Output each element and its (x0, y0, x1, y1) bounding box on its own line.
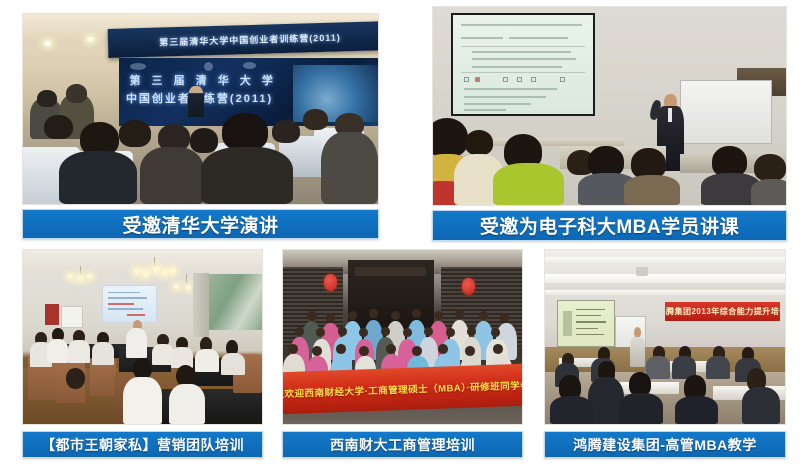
audience-figure (59, 151, 137, 204)
ceiling-light-strip (545, 257, 785, 264)
sponsor-logo-icon (243, 62, 256, 69)
stage-headline-line1: 第 三 届 清 华 大 学 (130, 73, 325, 88)
sponsor-logo-icon (204, 62, 213, 71)
red-lantern-icon (324, 274, 337, 291)
caption-uestc[interactable]: 受邀为电子科大MBA学员讲课 (432, 210, 787, 241)
student-figure (706, 356, 730, 379)
gallery-card-swufe[interactable]: 热烈欢迎西南财经大学·工商管理硕士（MBA）·研修班同学参加 西南财大工商管理培… (282, 249, 523, 458)
ceiling-light-strip (545, 290, 785, 295)
student-head (465, 130, 493, 156)
projector-screen-frame (451, 13, 596, 116)
photo-gallery: 第三届清华大学中国创业者训练营(2011) 第 三 届 清 华 大 学 中国创业… (0, 0, 800, 467)
gallery-card-uestc[interactable]: 受邀为电子科大MBA学员讲课 (432, 6, 787, 239)
red-banner-text: 鸿腾集团2013年综合能力提升培训 (665, 306, 780, 317)
gallery-card-hongteng[interactable]: 鸿腾集团2013年综合能力提升培训 (544, 249, 786, 458)
classroom-desk (482, 138, 623, 146)
caption-hongteng[interactable]: 鸿腾建设集团-高管MBA教学 (544, 431, 786, 458)
stage-headline-line2: 中国创业者训练营(2011) (126, 90, 339, 105)
student-figure (550, 396, 593, 424)
student-figure (619, 393, 662, 424)
audience-head (190, 128, 218, 153)
teacher-shirt (668, 108, 672, 122)
presenter-figure (126, 328, 148, 358)
student-figure (742, 387, 780, 424)
audience-head (222, 113, 268, 151)
attendee-figure (221, 353, 245, 376)
audience-head (119, 120, 151, 147)
caption-swufe[interactable]: 西南财大工商管理培训 (282, 431, 523, 458)
overhead-banner-text: 第三届清华大学中国创业者训练营(2011) (159, 31, 341, 49)
whiteboard (680, 80, 772, 143)
chandelier-icon (133, 257, 176, 285)
audience-head (272, 120, 300, 143)
caption-text: 【都市王朝家私】营销团队培训 (41, 435, 244, 455)
attendee-figure (195, 349, 219, 372)
audience-figure (140, 147, 204, 204)
caption-text: 鸿腾建设集团-高管MBA教学 (573, 435, 757, 455)
ceiling-light-icon (44, 41, 51, 46)
attendee-figure (68, 340, 90, 363)
attendee-head (66, 368, 85, 389)
attendee-figure (169, 384, 205, 424)
projector-icon (636, 267, 648, 276)
attendee-figure (92, 342, 114, 365)
curtain (193, 273, 210, 337)
caption-dushi[interactable]: 【都市王朝家私】营销团队培训 (22, 431, 263, 458)
student-head (754, 154, 786, 182)
projection-screen (102, 285, 157, 323)
audience-head (66, 84, 87, 103)
caption-text: 受邀为电子科大MBA学员讲课 (480, 212, 739, 239)
projector-screen (453, 15, 594, 114)
projection-screen (557, 300, 615, 347)
student-figure (624, 175, 680, 205)
banner-stand (45, 304, 59, 325)
teacher-figure (630, 337, 645, 367)
caption-text: 受邀清华大学演讲 (122, 211, 278, 238)
gallery-card-dushi[interactable]: 【都市王朝家私】营销团队培训 (22, 249, 263, 458)
photo-swufe-group[interactable]: 热烈欢迎西南财经大学·工商管理硕士（MBA）·研修班同学参加 (282, 249, 523, 425)
audience-head (37, 90, 57, 107)
student-figure (493, 163, 564, 205)
ceiling-light-strip (545, 274, 785, 283)
gallery-card-tsinghua[interactable]: 第三届清华大学中国创业者训练营(2011) 第 三 届 清 华 大 学 中国创业… (22, 13, 379, 239)
door-sign (355, 267, 427, 276)
audience-figure (321, 132, 378, 204)
photo-dushi-training[interactable] (22, 249, 263, 425)
student-figure (675, 396, 718, 424)
student-figure (646, 356, 670, 379)
audience-head (303, 109, 328, 130)
photo-hongteng-training[interactable]: 鸿腾集团2013年综合能力提升培训 (544, 249, 786, 425)
caption-text: 西南财大工商管理培训 (330, 435, 475, 455)
window (207, 274, 262, 330)
caption-tsinghua[interactable]: 受邀清华大学演讲 (22, 209, 379, 239)
chandelier-icon (66, 266, 95, 287)
student-figure (751, 179, 786, 205)
speaker-figure (188, 86, 204, 116)
attendee-figure (47, 339, 69, 363)
student-head (433, 118, 468, 158)
red-banner: 鸿腾集团2013年综合能力提升培训 (665, 302, 780, 321)
ceiling-light-icon (87, 37, 94, 42)
red-lantern-icon (462, 278, 475, 295)
photo-uestc-lecture[interactable] (432, 6, 787, 206)
attendee-figure (123, 377, 161, 424)
audience-figure (201, 147, 293, 204)
flipchart (61, 306, 83, 329)
red-banner-text: 热烈欢迎西南财经大学·工商管理硕士（MBA）·研修班同学参加 (283, 377, 522, 401)
audience-head (44, 115, 72, 140)
photo-tsinghua-speech[interactable]: 第三届清华大学中国创业者训练营(2011) 第 三 届 清 华 大 学 中国创业… (22, 13, 379, 205)
